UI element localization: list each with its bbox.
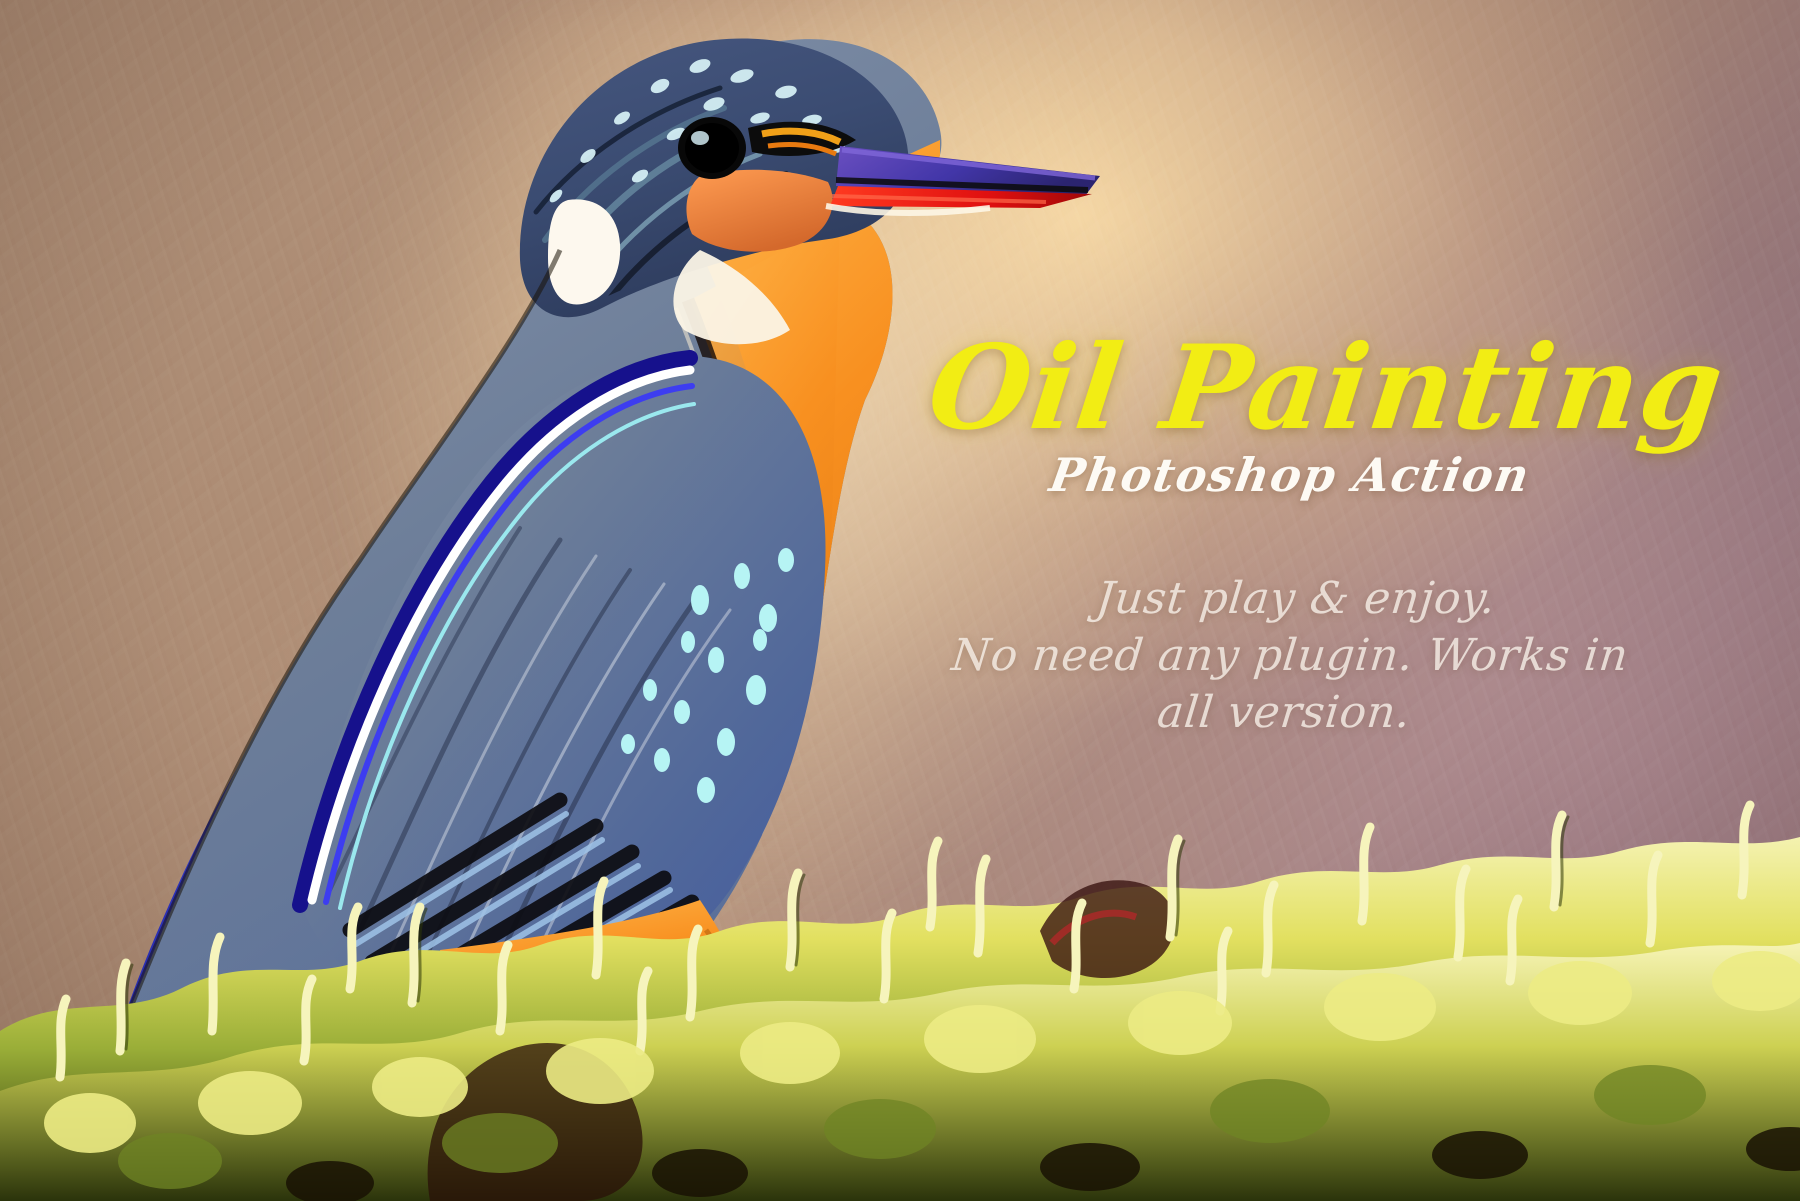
bird-beak (826, 146, 1100, 213)
moss-foreground (0, 731, 1800, 1201)
bird-eye (678, 117, 746, 179)
promo-text-block: Oil Painting Photoshop Action Just play … (930, 330, 1650, 742)
page-subtitle: Photoshop Action (926, 452, 1653, 498)
tagline-line-1: Just play & enjoy. (933, 570, 1659, 627)
page-title: Oil Painting (923, 330, 1657, 446)
promo-banner: Oil Painting Photoshop Action Just play … (0, 0, 1800, 1201)
tagline: Just play & enjoy. No need any plugin. W… (921, 570, 1659, 742)
tagline-line-2: No need any plugin. Works in (927, 627, 1653, 684)
